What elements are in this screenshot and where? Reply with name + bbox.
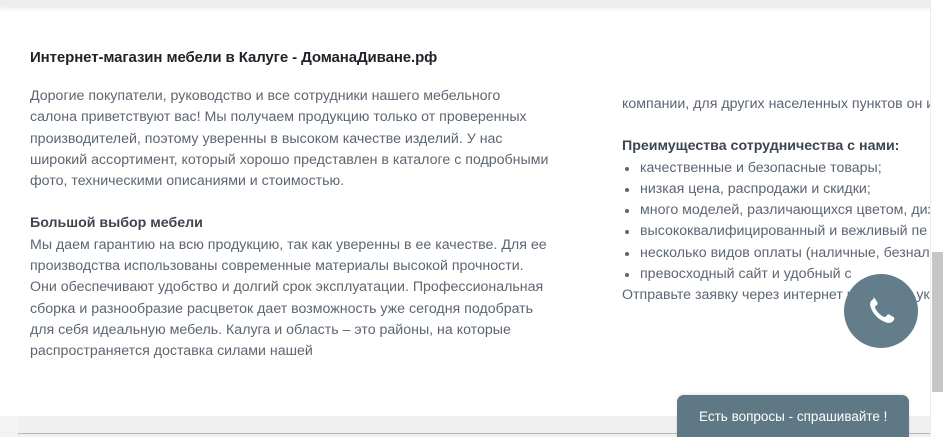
bullet-dot-icon xyxy=(625,273,629,277)
page-content-sheet: Интернет-магазин мебели в Калуге - Доман… xyxy=(0,6,943,416)
list-item: низкая цена, распродажи и скидки; xyxy=(622,179,943,200)
advantages-list: качественные и безопасные товары; низкая… xyxy=(622,158,943,286)
article-right-column: компании, для других населенных пунктов … xyxy=(622,6,943,307)
bullet-dot-icon xyxy=(625,209,629,213)
continued-paragraph: компании, для других населенных пунктов … xyxy=(622,94,943,115)
list-item: высококвалифицированный и вежливый пе xyxy=(622,221,943,242)
list-item-label: много моделей, различающихся цветом, диз xyxy=(640,202,934,218)
intro-paragraph: Дорогие покупатели, руководство и все со… xyxy=(30,86,550,192)
list-item-label: превосходный сайт и удобный с xyxy=(640,266,852,282)
list-item: качественные и безопасные товары; xyxy=(622,158,943,179)
list-item-label: несколько видов оплаты (наличные, безнал xyxy=(640,245,930,261)
bullet-dot-icon xyxy=(625,167,629,171)
list-item: несколько видов оплаты (наличные, безнал xyxy=(622,243,943,264)
phone-icon xyxy=(863,293,899,329)
chat-invite-label: Есть вопросы - спрашивайте ! xyxy=(699,409,887,424)
chat-invite-bubble[interactable]: Есть вопросы - спрашивайте ! xyxy=(677,395,909,437)
vertical-scrollbar-track[interactable] xyxy=(930,0,943,437)
list-item-label: низкая цена, распродажи и скидки; xyxy=(640,181,871,197)
footer-left-notch xyxy=(0,416,18,437)
right-column-offset xyxy=(622,6,943,94)
viewport-top-band xyxy=(0,0,943,6)
bullet-dot-icon xyxy=(625,230,629,234)
bullet-dot-icon xyxy=(625,188,629,192)
vertical-scrollbar-thumb[interactable] xyxy=(932,252,943,392)
section-paragraph: Мы даем гарантию на всю продукцию, так к… xyxy=(30,235,550,363)
section-heading-big-choice: Большой выбор мебели xyxy=(30,213,550,234)
page-title: Интернет-магазин мебели в Калуге - Доман… xyxy=(30,49,550,66)
list-item-label: качественные и безопасные товары; xyxy=(640,160,882,176)
article-left-column: Интернет-магазин мебели в Калуге - Доман… xyxy=(30,6,550,363)
call-button[interactable] xyxy=(844,274,918,348)
list-item: много моделей, различающихся цветом, диз xyxy=(622,200,943,221)
list-item-label: высококвалифицированный и вежливый пе xyxy=(640,223,927,239)
section-heading-advantages: Преимущества сотрудничества с нами: xyxy=(622,136,943,157)
bullet-dot-icon xyxy=(625,252,629,256)
